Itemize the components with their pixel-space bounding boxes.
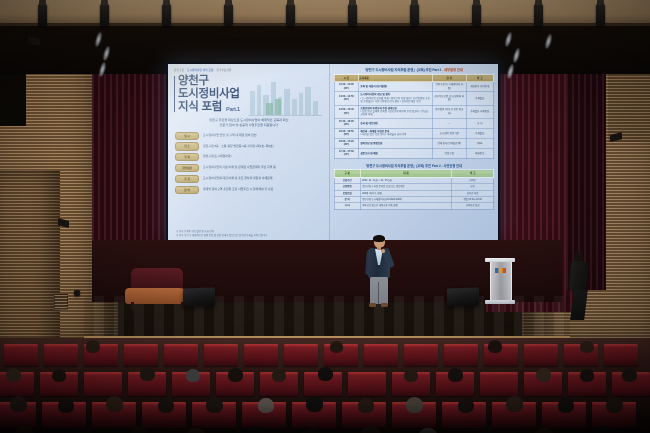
column-header-note: 비 고 xyxy=(452,170,494,177)
table-row: 기 타 주차공간 협소로 대중교통 이용 권장 교육자료 제공 xyxy=(334,203,493,209)
cell-content: 주차공간 협소로 대중교통 이용 권장 xyxy=(360,203,452,209)
audience-head xyxy=(140,367,155,381)
table-row: 17:20~ 17:30 (10') 설문조사 및 폐회 양천구청 폐회인사 xyxy=(334,148,493,158)
stage-light-icon xyxy=(348,4,357,26)
info-text: 도시정비사업의 기본 이해 및 관계된 사업관계자 주민 지역 등 xyxy=(203,166,276,170)
staff-legs xyxy=(570,290,588,320)
stage-light-icon xyxy=(596,4,605,26)
cell-topic: 조합운영의 투명성과 주민 권익보호 • 조합 운영 실태와 문제점 • 정보공… xyxy=(358,105,432,118)
table-row: 13:30~ 14:00 (30') 등록 및 개회식 (인사말씀) 양천구청 … xyxy=(334,82,493,92)
cell-time: 16:50~ 17:20 (30') xyxy=(334,138,358,148)
stage-light-icon xyxy=(224,4,233,26)
registration-table-title: '양천구 도시정비사업 지식포럼 운영」(교육) 추진 Part 2 - 사전신… xyxy=(334,163,494,168)
column-header-category: 구 분 xyxy=(334,170,360,177)
seat xyxy=(4,344,38,366)
info-text: 양천구청(도시재정비과) xyxy=(203,155,232,159)
stage-light-icon xyxy=(410,4,419,26)
cell-speaker: 양천구청 xyxy=(432,148,466,158)
presenter-legs xyxy=(370,277,388,304)
cell-topic: 도시정비사업의 개요 및 절차 • 도시정비사업 유형별 이해 • 정비구역 지… xyxy=(358,92,432,105)
audience-head xyxy=(448,368,463,382)
wall-vent-grille xyxy=(54,294,68,310)
seat-row xyxy=(0,340,650,366)
cell-speaker: 한국부동산원 (도시정비처 차장) xyxy=(432,92,466,105)
cell-topic: 등록 및 개회식 (인사말씀) xyxy=(358,82,432,92)
info-label-pill: 참석대상 xyxy=(175,164,199,172)
slide-right-column: '양천구 도시정비사업 지식포럼 운영」(교육) 추진 Part 1 - 세부일… xyxy=(330,64,498,240)
seat xyxy=(404,344,438,366)
list-item: 주 최 양천구청(도시재정비과) xyxy=(175,153,323,161)
table-row: 16:50~ 17:20 (30') 질의응답 및 종합토론 전체 강사진 (패… xyxy=(334,138,493,148)
list-item: 장 소 양천구청 8층 · 소통 광장 별관동 3층 기획실 (제1호~제3호) xyxy=(175,142,323,150)
audience-head xyxy=(488,340,502,353)
cell-time: 14:50~ 15:40 (50') xyxy=(334,105,358,118)
table-header-row: 시 간 교육내용 강 사 비 고 xyxy=(334,75,493,82)
cell-note: 휴 식 xyxy=(466,118,493,128)
list-item: 문 의 재개발 정비구역 추진위 조합 사업추진 시 유의해야 할 사항 xyxy=(175,186,323,194)
cell-note: 주제발표 xyxy=(466,128,493,138)
staff-body xyxy=(569,260,589,292)
seat xyxy=(364,344,398,366)
audience-head xyxy=(580,341,594,353)
staff-member xyxy=(568,252,590,320)
cell-topic: 질의응답 및 종합토론 xyxy=(358,138,432,148)
presenter-shoe-left xyxy=(369,303,376,307)
presenter xyxy=(364,236,394,308)
cell-category: 기 타 xyxy=(334,203,360,209)
cell-time: 17:20~ 17:30 (10') xyxy=(334,148,358,158)
topic-sub: • 사업성 검토 기본 원리 • 비례율과 권리가액 xyxy=(360,133,430,136)
brand-left: 양천구청 xyxy=(174,68,184,72)
seat-row xyxy=(0,364,650,394)
schedule-title-highlight: - 세부일정 안내 xyxy=(441,68,463,72)
presenter-hair xyxy=(373,235,386,242)
cell-time: 15:40~ 16:00 (20') xyxy=(334,118,358,128)
cell-speaker: 법무법인 (부동산 전문 변호사) xyxy=(432,105,466,118)
cell-note: 교육자료 제공 xyxy=(452,203,494,209)
info-label-pill: 일 시 xyxy=(175,132,199,140)
cell-note: 폐회인사 xyxy=(466,148,493,158)
piano-body xyxy=(125,288,191,304)
seat xyxy=(244,344,278,366)
topic-heading: 설문조사 및 폐회 xyxy=(360,152,430,155)
seat xyxy=(124,344,158,366)
info-label-pill: 주 최 xyxy=(175,153,199,161)
topic-sub: • 조합 운영 실태와 문제점 • 정보공개 의무와 주민 알권리 • 분담금 … xyxy=(360,110,430,117)
wood-slat-wall-left-lower xyxy=(0,170,60,360)
column-header-topic: 교육내용 xyxy=(358,75,432,82)
info-text: 양천구청 8층 · 소통 광장 별관동 3층 기획실 (제1호~제3호) xyxy=(203,145,274,149)
slide-left-column: 양천구청 도시정비사업 지식 포럼 한국부동산원 xyxy=(168,64,330,240)
cell-note: 개회인사 행사안내 xyxy=(466,82,493,92)
cell-topic: 재건축 · 재개발 사업성 분석 • 사업성 검토 기본 원리 • 비례율과 권… xyxy=(358,128,432,138)
table-row: 16:00~ 16:50 (50') 재건축 · 재개발 사업성 분석 • 사업… xyxy=(334,128,493,138)
seat xyxy=(164,344,198,366)
cell-topic: 설문조사 및 폐회 xyxy=(358,148,432,158)
audience-head xyxy=(228,368,243,382)
column-header-time: 시 간 xyxy=(334,75,358,82)
slide-title-line-3: 지식 포럼 xyxy=(178,101,222,114)
seat xyxy=(204,344,238,366)
topic-sub: • 도시정비사업 유형별 이해 • 정비구역 지정 절차 • 추진위원회 구성 … xyxy=(360,97,430,104)
schedule-title-main: '양천구 도시정비사업 지식포럼 운영」(교육) 추진 Part 1 xyxy=(365,68,441,72)
seat xyxy=(44,344,78,366)
seat xyxy=(444,344,478,366)
list-item: 주 관 도시정비사업에 대한 이해 및 추진 절차의 과정과 이해관계 xyxy=(175,175,323,183)
column-header-speaker: 강 사 xyxy=(432,75,466,82)
auditorium-photo: 양천구청 도시정비사업 지식 포럼 한국부동산원 xyxy=(0,0,650,433)
topic-heading: 등록 및 개회식 (인사말씀) xyxy=(360,85,430,88)
audience-head xyxy=(536,368,551,382)
cell-speaker: 전체 강사진 (패널토의) xyxy=(432,138,466,148)
cell-speaker: 도시정비 전문기관 xyxy=(432,128,466,138)
cell-speaker: 양천구청 (도시재정비과 과장) xyxy=(432,82,466,92)
seat xyxy=(604,344,638,366)
stage-light-icon xyxy=(38,4,47,26)
schedule-table-title: '양천구 도시정비사업 지식포럼 운영」(교육) 추진 Part 1 - 세부일… xyxy=(334,67,494,72)
stage-monitor-speaker-left xyxy=(183,287,215,306)
table-row: 15:40~ 16:00 (20') 휴식 및 네트워킹 - - 휴 식 xyxy=(334,118,493,128)
piano-leg xyxy=(131,302,134,310)
info-text: 재개발 정비구역 추진위 조합 사업추진 시 유의해야 할 사항 xyxy=(203,188,273,192)
audience-head xyxy=(318,367,333,381)
info-label-pill: 주 관 xyxy=(175,175,199,183)
slide-title-block: 양천구 도시정비사업 지식 포럼 Part.1 xyxy=(174,75,324,114)
list-item: 참석대상 도시정비사업의 기본 이해 및 관계된 사업관계자 주민 지역 등 xyxy=(175,164,323,172)
audience-head xyxy=(622,368,637,382)
audience-head xyxy=(404,369,418,382)
cell-note: 주제발표 사례중심 xyxy=(466,105,493,118)
audience-shadow xyxy=(0,403,650,433)
table-row: 14:50~ 15:40 (50') 조합운영의 투명성과 주민 권익보호 • … xyxy=(334,105,493,118)
lectern-logo xyxy=(495,268,506,273)
presenter-shoe-right xyxy=(381,303,388,307)
brand-right: 한국부동산원 xyxy=(216,68,231,72)
wall-outlet-icon xyxy=(74,290,80,296)
cell-time: 16:00~ 16:50 (50') xyxy=(334,128,358,138)
cell-note: 주제발표 xyxy=(466,92,493,105)
slide-title-part: Part.1 xyxy=(226,107,240,115)
table-row: 14:00~ 14:50 (50') 도시정비사업의 개요 및 절차 • 도시정… xyxy=(334,92,493,105)
footnote: ※ 행사 종료 후 개별적으로 질의 응답 및 상담 안내가 있으므로, 참석자… xyxy=(176,234,322,237)
audience-head xyxy=(272,369,286,382)
column-header-content: 내 용 xyxy=(360,170,452,177)
slide-brand-row: 양천구청 도시정비사업 지식 포럼 한국부동산원 xyxy=(174,68,324,72)
audience-head xyxy=(52,369,66,382)
stage-light-icon xyxy=(534,4,543,26)
brand-center: 도시정비사업 지식 포럼 xyxy=(187,68,214,72)
seat xyxy=(524,344,558,366)
stage-light-icon xyxy=(472,4,481,26)
audience-head xyxy=(580,369,594,382)
presenter-hand xyxy=(381,249,385,254)
cell-time: 14:00~ 14:50 (50') xyxy=(334,92,358,105)
presentation-slide: 양천구청 도시정비사업 지식 포럼 한국부동산원 xyxy=(168,64,498,240)
cell-topic: 휴식 및 네트워킹 xyxy=(358,118,432,128)
stage-monitor-speaker-right xyxy=(447,287,479,306)
stage-light-icon xyxy=(100,4,109,26)
info-text: 도시정비사업에 대한 이해 및 추진 절차의 과정과 이해관계 xyxy=(203,177,272,181)
cell-speaker: - - xyxy=(432,118,466,128)
table-header-row: 구 분 내 용 비 고 xyxy=(334,170,493,177)
ceiling-soffit xyxy=(0,0,650,26)
registration-table: 구 분 내 용 비 고 신청기간 2024. 11. 1.(금) ~ 11. 1… xyxy=(334,169,494,209)
topic-heading: 질의응답 및 종합토론 xyxy=(360,142,430,145)
audience-area xyxy=(0,338,650,433)
seat xyxy=(284,344,318,366)
slide-info-list: 일 시 도시정비사업 전망 및 구역 내 재정 정비 관련 장 소 양천구청 8… xyxy=(174,132,324,194)
slide-footnotes: ※ 행사 진행중 사진 촬영 및 녹화 진행 ※ 행사 종료 후 개별적으로 질… xyxy=(174,230,324,237)
audience-head xyxy=(330,341,343,353)
topic-heading: 휴식 및 네트워킹 xyxy=(360,122,430,125)
info-label-pill: 장 소 xyxy=(175,142,199,150)
lead-line-2: 전문가 참여 및 성공적 사업추진을 지원합니다 xyxy=(176,123,322,128)
cell-time: 13:30~ 14:00 (30') xyxy=(334,82,358,92)
audience-head xyxy=(86,340,100,353)
list-item: 일 시 도시정비사업 전망 및 구역 내 재정 정비 관련 xyxy=(175,132,323,140)
cell-note: Q&A xyxy=(466,138,493,148)
info-text: 도시정비사업 전망 및 구역 내 재정 정비 관련 xyxy=(203,134,257,138)
audience-head xyxy=(6,368,21,382)
info-label-pill: 문 의 xyxy=(175,186,199,194)
stage-light-icon xyxy=(286,4,295,26)
audience-head xyxy=(186,369,200,382)
city-skyline-icon xyxy=(248,77,322,117)
stage-light-icon xyxy=(162,4,171,26)
schedule-table: 시 간 교육내용 강 사 비 고 13:30~ 14:00 (30') 등록 및… xyxy=(334,74,494,159)
slide-lead-text: 양천구 주민을 대상으로 도시정비사업의 체계적인 교육과 최신 전문가 참여 … xyxy=(176,118,322,127)
lectern-base xyxy=(485,300,515,304)
grand-piano xyxy=(125,268,191,304)
projection-screen: 양천구청 도시정비사업 지식 포럼 한국부동산원 xyxy=(166,62,500,242)
lectern xyxy=(487,258,513,304)
column-header-note: 비 고 xyxy=(466,75,493,82)
